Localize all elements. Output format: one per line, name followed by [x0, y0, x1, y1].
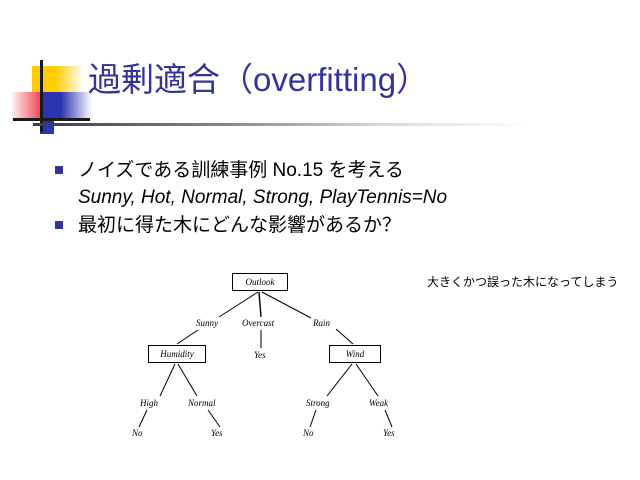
tree-node-humidity: Humidity [148, 345, 206, 363]
bullet-item-1-text: ノイズである訓練事例 No.15 を考える [78, 157, 630, 184]
tree-edge-label-sunny: Sunny [196, 318, 218, 329]
tree-edge-label-normal: Normal [188, 398, 216, 409]
bullet-square-icon [55, 166, 63, 174]
decor-horizontal-rule [13, 118, 90, 121]
bullet-item-2-text: 最初に得た木にどんな影響があるか？ [78, 212, 630, 239]
tree-edge-label-rain: Rain [313, 318, 330, 329]
tree-leaf-overcast-yes: Yes [254, 350, 266, 361]
decor-blue-block [40, 92, 92, 120]
tree-leaf-strong-no: No [303, 428, 314, 439]
bullet-item-1-subtext: Sunny, Hot, Normal, Strong, PlayTennis=N… [78, 184, 630, 211]
bullet-square-icon [55, 221, 63, 229]
tree-node-outlook: Outlook [232, 273, 288, 291]
title-divider [33, 123, 533, 126]
bullet-item-1: ノイズである訓練事例 No.15 を考える Sunny, Hot, Normal… [50, 157, 630, 211]
tree-edge-label-high: High [140, 398, 158, 409]
tree-leaf-normal-yes: Yes [211, 428, 223, 439]
tree-leaf-high-no: No [132, 428, 143, 439]
page-title: 過剰適合（overfitting） [88, 60, 429, 100]
tree-annotation-text: 大きくかつ誤った木になってしまう [427, 273, 618, 290]
bullet-item-2: 最初に得た木にどんな影響があるか？ [50, 212, 630, 239]
tree-edge-label-weak: Weak [369, 398, 388, 409]
tree-node-wind: Wind [329, 345, 381, 363]
decor-vertical-rule [40, 60, 43, 132]
tree-edge-label-strong: Strong [306, 398, 330, 409]
tree-leaf-weak-yes: Yes [383, 428, 395, 439]
tree-edge-label-overcast: Overcast [242, 318, 274, 329]
